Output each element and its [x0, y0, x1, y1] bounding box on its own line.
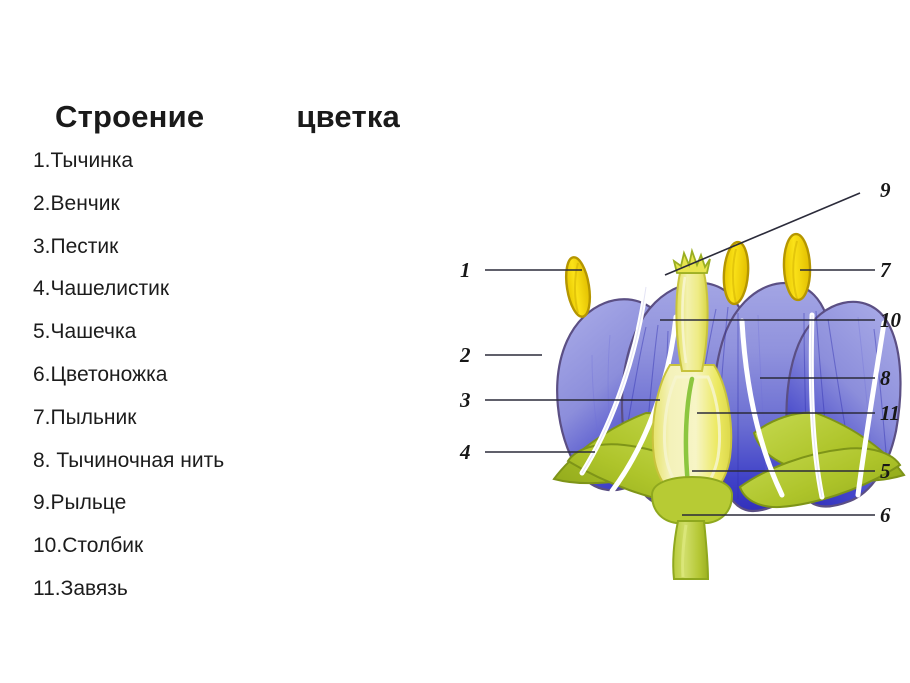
callout-label-6: 6	[880, 503, 891, 528]
list-item: 1.Тычинка	[33, 150, 453, 193]
pedicel	[673, 521, 708, 579]
callout-label-5: 5	[880, 459, 891, 484]
page-title: Строениецветка	[55, 99, 400, 135]
list-item: 5.Чашечка	[33, 321, 453, 364]
list-item: 8. Тычиночная нить	[33, 450, 453, 493]
flower-diagram: 1 2 3 4 9 7 10 8 11 5 6	[460, 165, 910, 585]
flower-illustration	[460, 165, 910, 585]
callout-label-11: 11	[880, 401, 900, 426]
callout-label-4: 4	[460, 440, 471, 465]
list-item: 4.Чашелистик	[33, 278, 453, 321]
list-item: 7.Пыльник	[33, 407, 453, 450]
list-item: 10.Столбик	[33, 535, 453, 578]
calyx	[652, 477, 732, 523]
callout-label-2: 2	[460, 343, 471, 368]
list-item: 11.Завязь	[33, 578, 453, 621]
list-item: 9.Рыльце	[33, 492, 453, 535]
title-word-2: цветка	[296, 99, 400, 134]
calyx-and-pedicel	[652, 477, 732, 579]
slide-canvas: Строениецветка 1.Тычинка 2.Венчик 3.Пест…	[0, 0, 910, 683]
callout-label-3: 3	[460, 388, 471, 413]
list-item: 2.Венчик	[33, 193, 453, 236]
style	[676, 273, 707, 371]
callout-label-1: 1	[460, 258, 471, 283]
title-word-1: Строение	[55, 99, 204, 134]
callout-label-7: 7	[880, 258, 891, 283]
callout-label-10: 10	[880, 308, 901, 333]
callout-label-8: 8	[880, 366, 891, 391]
list-item: 3.Пестик	[33, 236, 453, 279]
legend-list: 1.Тычинка 2.Венчик 3.Пестик 4.Чашелистик…	[33, 150, 453, 621]
list-item: 6.Цветоножка	[33, 364, 453, 407]
callout-label-9: 9	[880, 178, 891, 203]
leader-line-9	[665, 193, 860, 275]
